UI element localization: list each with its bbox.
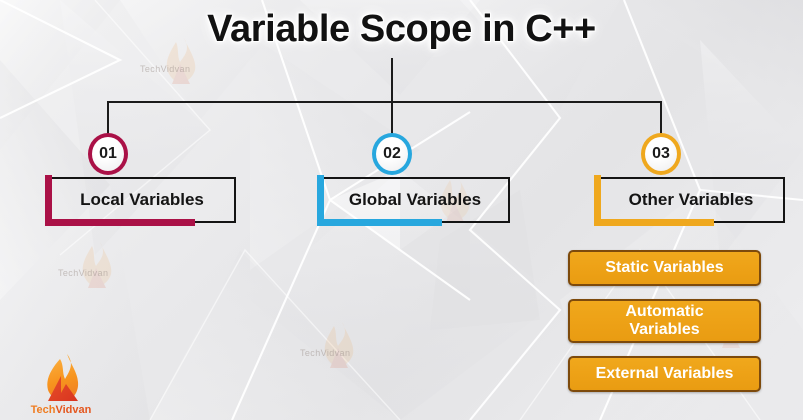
sub-item-external-variables: External Variables (568, 356, 761, 392)
category-box-global-variables: Global Variables (320, 177, 510, 223)
accent-bar-bottom (45, 219, 195, 226)
step-badge-02: 02 (372, 133, 412, 175)
category-label: Other Variables (629, 190, 754, 210)
connector-branch-3 (660, 101, 662, 137)
connector-horizontal-bus (107, 101, 662, 103)
accent-bar-bottom (317, 219, 442, 226)
step-badge-03: 03 (641, 133, 681, 175)
category-label: Global Variables (349, 190, 481, 210)
accent-bar-left (594, 175, 601, 225)
accent-bar-left (45, 175, 52, 225)
infographic-canvas: TechVidvan TechVidvan TechVidvan TechVid… (0, 0, 803, 420)
category-box-other-variables: Other Variables (597, 177, 785, 223)
sub-item-label: External Variables (596, 365, 734, 383)
accent-bar-left (317, 175, 324, 225)
step-number: 01 (99, 145, 117, 163)
watermark-text: TechVidvan (140, 64, 190, 74)
accent-bar-bottom (594, 219, 714, 226)
step-number: 03 (652, 145, 670, 163)
watermark-flame-icon (66, 238, 126, 298)
step-badge-01: 01 (88, 133, 128, 175)
watermark-text: TechVidvan (58, 268, 108, 278)
watermark-flame-icon (308, 318, 368, 378)
category-box-local-variables: Local Variables (48, 177, 236, 223)
step-number: 02 (383, 145, 401, 163)
page-title: Variable Scope in C++ (0, 8, 803, 51)
sub-item-automatic-variables: Automatic Variables (568, 299, 761, 343)
connector-branch-1 (107, 101, 109, 137)
sub-item-label: Static Variables (605, 259, 723, 277)
sub-item-static-variables: Static Variables (568, 250, 761, 286)
sub-item-label-line2: Variables (629, 321, 699, 338)
sub-item-label-wrap: Automatic Variables (625, 303, 703, 339)
category-label: Local Variables (80, 190, 204, 210)
connector-branch-2 (391, 101, 393, 137)
techvidvan-logo-icon (22, 352, 100, 414)
connector-root-vertical (391, 58, 393, 103)
sub-item-label-line1: Automatic (625, 303, 703, 320)
watermark-text: TechVidvan (300, 348, 350, 358)
